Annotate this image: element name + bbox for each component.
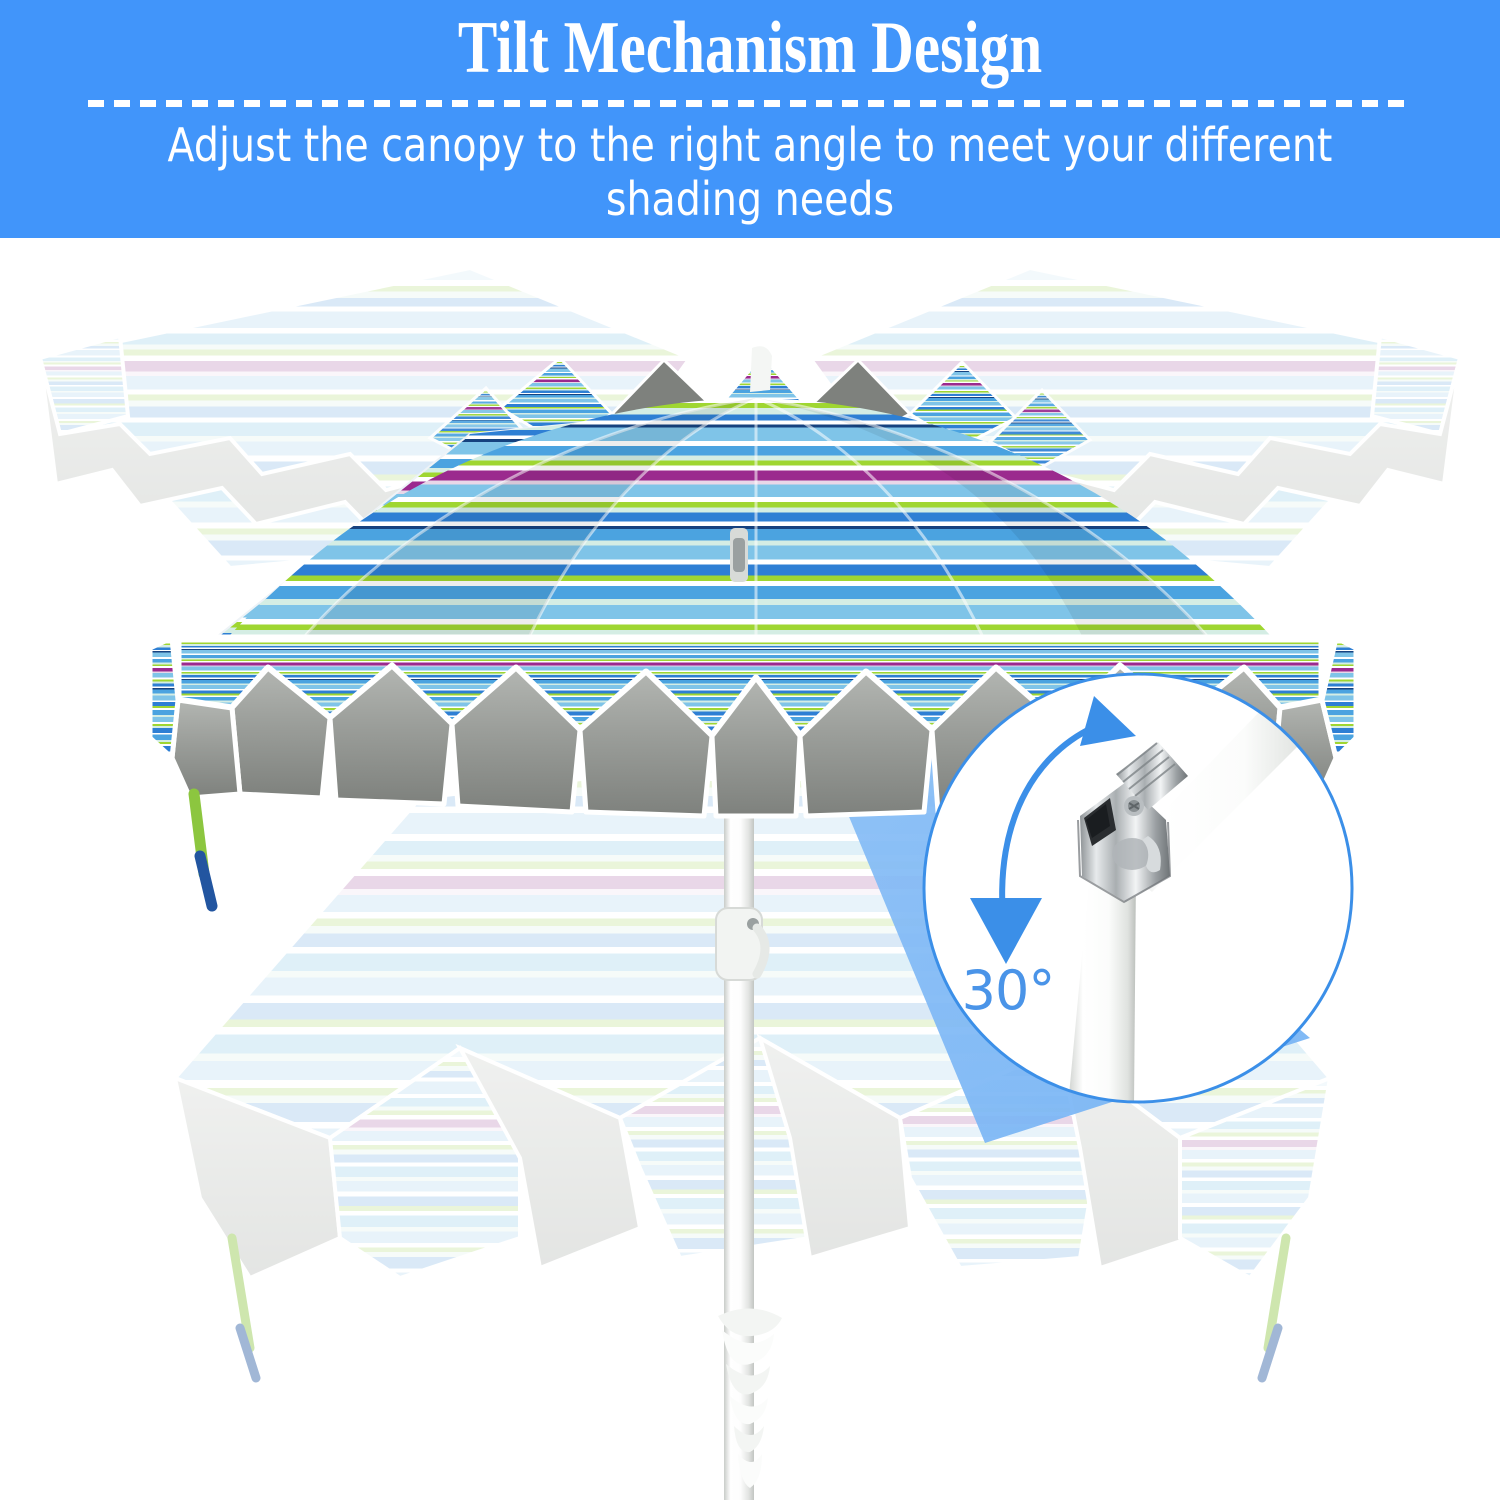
page-title: Tilt Mechanism Design [150,6,1350,90]
product-feature-image: Tilt Mechanism Design Adjust the canopy … [0,0,1500,1500]
dashed-divider [88,100,1412,107]
tilt-joint-callout: 30° [920,670,1356,1106]
canopy-hub-bracket [730,528,748,582]
header-banner: Tilt Mechanism Design Adjust the canopy … [0,0,1500,238]
angle-label: 30° [938,962,1078,1020]
tilt-collar [716,908,765,980]
tie-strap-left [194,794,212,906]
banner-subtitle: Adjust the canopy to the right angle to … [165,118,1335,226]
